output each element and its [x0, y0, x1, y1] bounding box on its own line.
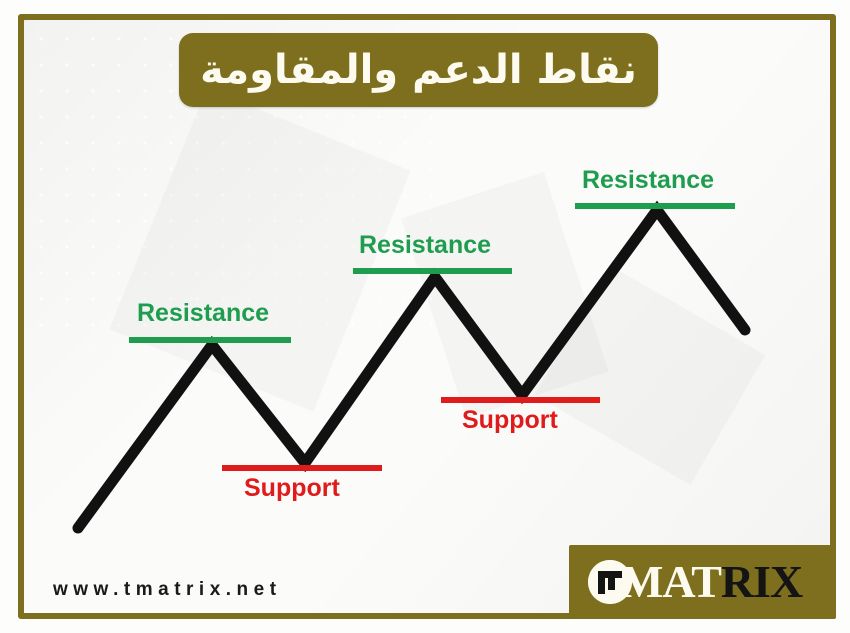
page-title: نقاط الدعم والمقاومة: [200, 50, 637, 90]
support-label-2: Support: [462, 408, 558, 433]
t-circle-icon: [588, 560, 632, 604]
resistance-label-1: Resistance: [137, 301, 269, 326]
resistance-label-2: Resistance: [359, 233, 491, 258]
brand-logo-text-part2: RIX: [721, 556, 802, 607]
brand-logo-badge[interactable]: MATRIX: [569, 545, 836, 619]
infographic-canvas: نقاط الدعم والمقاومة Resistance Support …: [0, 0, 850, 633]
website-url[interactable]: www.tmatrix.net: [53, 579, 282, 601]
support-label-1: Support: [244, 476, 340, 501]
brand-logo-text-part1: MAT: [620, 556, 721, 607]
resistance-label-3: Resistance: [582, 168, 714, 193]
brand-logo-text: MATRIX: [620, 559, 802, 605]
title-badge: نقاط الدعم والمقاومة: [179, 33, 658, 107]
